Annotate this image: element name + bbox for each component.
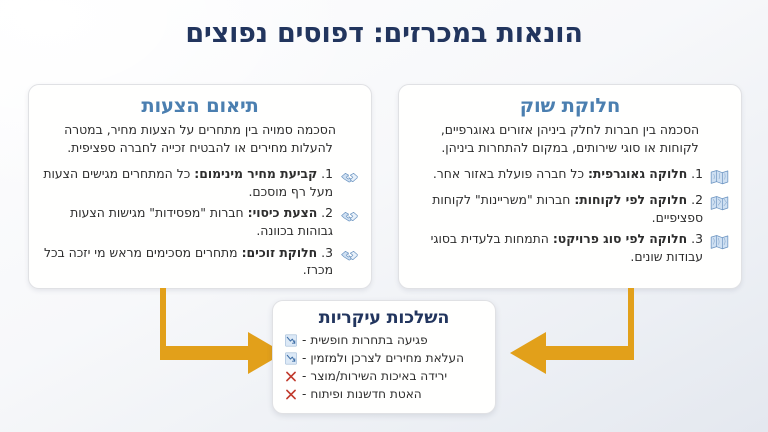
outcome-text: העלאת מחירים לצרכן ולמזמין [310, 349, 464, 367]
list-item-body: 3. חלוקת זוכים: מתחרים מסכימים מראש מי י… [40, 244, 333, 279]
list-item-number: 3. [321, 245, 333, 260]
chart-decreasing-icon [283, 333, 298, 347]
list-item: 2. חלוקה לפי לקוחות: חברות "משריינות" לק… [410, 191, 730, 226]
card-intro-market-allocation: הסכמה בין חברות לחלק ביניהן אזורים גאוגר… [410, 121, 730, 156]
outcomes-title: השלכות עיקריות [283, 308, 485, 328]
outcome-text: האטת חדשנות ופיתוח [310, 385, 421, 403]
list-item-term: חלוקה גאוגרפית: [588, 166, 687, 181]
map-icon [708, 166, 730, 187]
card-title-market-allocation: חלוקת שוק [410, 94, 730, 117]
cross-mark-icon [283, 369, 298, 383]
list-item-number: 2. [321, 205, 333, 220]
outcome-text: פגיעה בתחרות חופשית [310, 331, 427, 349]
list-item-term: חלוקה לפי סוג פרויקט: [553, 231, 687, 246]
outcome-dash: - [302, 385, 306, 403]
card-outcomes: השלכות עיקריות פגיעה בתחרות חופשית - העל… [272, 300, 496, 414]
arrow-market-allocation-to-outcomes [504, 288, 634, 382]
list-item: 2. הצעת כיסוי: חברות "מפסידות" מגישות הצ… [40, 204, 360, 239]
card-bid-rigging: תיאום הצעות הסכמה סמויה בין מתחרים על הצ… [28, 84, 372, 289]
list-item: האטת חדשנות ופיתוח - [283, 385, 485, 403]
list-item-term: קביעת מחיר מינימום: [194, 166, 317, 181]
item-list-market-allocation: 1. חלוקה גאוגרפית: כל חברה פועלת באזור א… [410, 165, 730, 265]
list-item: העלאת מחירים לצרכן ולמזמין - [283, 349, 485, 367]
list-item-number: 3. [691, 231, 703, 246]
list-item-term: הצעת כיסוי: [248, 205, 318, 220]
outcome-text: ירידה באיכות השירות/מוצר [310, 367, 447, 385]
map-icon [708, 192, 730, 213]
list-item-number: 2. [691, 192, 703, 207]
outcome-list: פגיעה בתחרות חופשית - העלאת מחירים לצרכן… [283, 331, 485, 404]
list-item-term: חלוקת זוכים: [242, 245, 318, 260]
card-market-allocation: חלוקת שוק הסכמה בין חברות לחלק ביניהן אז… [398, 84, 742, 289]
list-item: 1. קביעת מחיר מינימום: כל המתחרים מגישים… [40, 165, 360, 200]
outcome-dash: - [302, 367, 306, 385]
chart-decreasing-icon [283, 351, 298, 365]
cross-mark-icon [283, 387, 298, 401]
handshake-icon [338, 205, 360, 226]
page-title: הונאות במכרזים: דפוסים נפוצים [0, 18, 768, 49]
list-item-term: חלוקה לפי לקוחות: [574, 192, 687, 207]
list-item-body: 2. הצעת כיסוי: חברות "מפסידות" מגישות הצ… [40, 204, 333, 239]
map-icon [708, 231, 730, 252]
item-list-bid-rigging: 1. קביעת מחיר מינימום: כל המתחרים מגישים… [40, 165, 360, 279]
list-item-number: 1. [691, 166, 703, 181]
handshake-icon [338, 166, 360, 187]
list-item-body: 3. חלוקה לפי סוג פרויקט: התמחות בלעדית ב… [410, 230, 703, 265]
list-item: ירידה באיכות השירות/מוצר - [283, 367, 485, 385]
list-item-body: 1. חלוקה גאוגרפית: כל חברה פועלת באזור א… [410, 165, 703, 183]
list-item: 1. חלוקה גאוגרפית: כל חברה פועלת באזור א… [410, 165, 730, 187]
list-item: פגיעה בתחרות חופשית - [283, 331, 485, 349]
list-item-number: 1. [321, 166, 333, 181]
card-title-bid-rigging: תיאום הצעות [40, 94, 360, 117]
card-intro-bid-rigging: הסכמה סמויה בין מתחרים על הצעות מחיר, במ… [40, 121, 360, 156]
outcome-dash: - [302, 349, 306, 367]
list-item-text: כל חברה פועלת באזור אחר. [433, 166, 584, 181]
handshake-icon [338, 245, 360, 266]
list-item: 3. חלוקת זוכים: מתחרים מסכימים מראש מי י… [40, 244, 360, 279]
list-item: 3. חלוקה לפי סוג פרויקט: התמחות בלעדית ב… [410, 230, 730, 265]
outcome-dash: - [302, 331, 306, 349]
list-item-body: 2. חלוקה לפי לקוחות: חברות "משריינות" לק… [410, 191, 703, 226]
list-item-body: 1. קביעת מחיר מינימום: כל המתחרים מגישים… [40, 165, 333, 200]
arrow-bid-rigging-to-outcomes [160, 288, 290, 382]
